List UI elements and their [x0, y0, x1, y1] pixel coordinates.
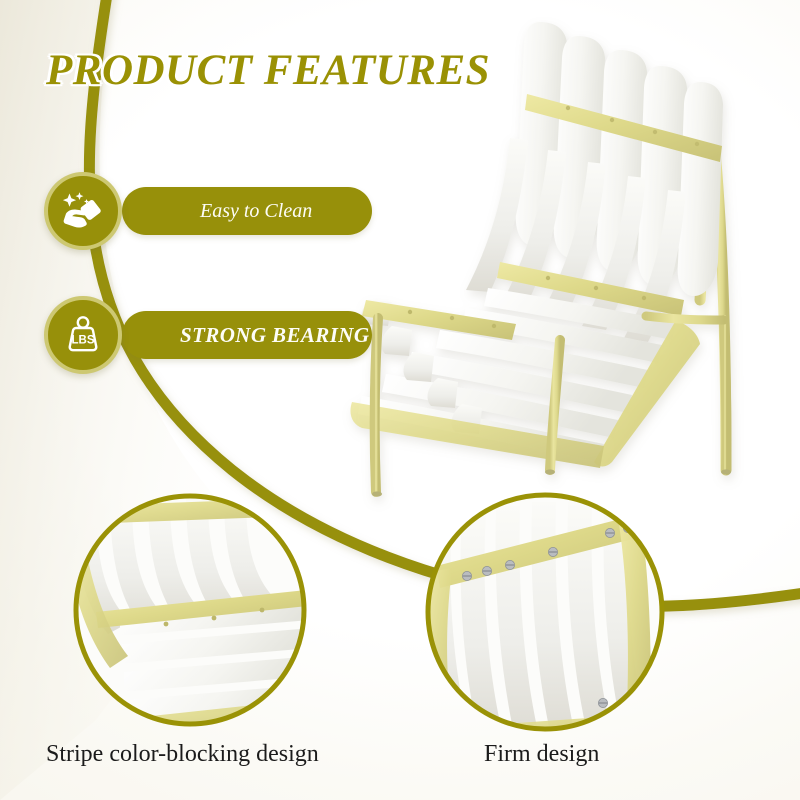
weight-lbs-icon: LBS: [44, 296, 122, 374]
chair-rear-right-leg: [724, 320, 726, 470]
detail-caption-firm-design: Firm design: [484, 741, 599, 768]
detail-caption-stripe-color-blocking: Stripe color-blocking design: [46, 741, 319, 768]
feature-pill-0[interactable]: Easy to Clean: [122, 187, 372, 235]
feature-label-easy-to-clean: Easy to Clean: [200, 200, 312, 223]
detail-callout-right: [425, 495, 662, 746]
page-title: PRODUCT FEATURES: [46, 46, 490, 95]
hand-wiping-cloth-sparkle-icon: [44, 172, 122, 250]
detail-callout-left: [66, 496, 316, 734]
feature-pill-1[interactable]: STRONG BEARING: [122, 311, 372, 359]
chair-rear-stretcher: [646, 316, 724, 320]
product-features-infographic: PRODUCT FEATURES Easy to Clean STRONG BE…: [0, 0, 800, 800]
chair-foot-caps: [372, 469, 731, 496]
weight-icon-label: LBS: [72, 334, 95, 346]
feature-label-strong-bearing: STRONG BEARING: [180, 323, 369, 348]
chair-front-left-leg: [375, 318, 378, 492]
product-artwork-layer: [0, 0, 800, 800]
